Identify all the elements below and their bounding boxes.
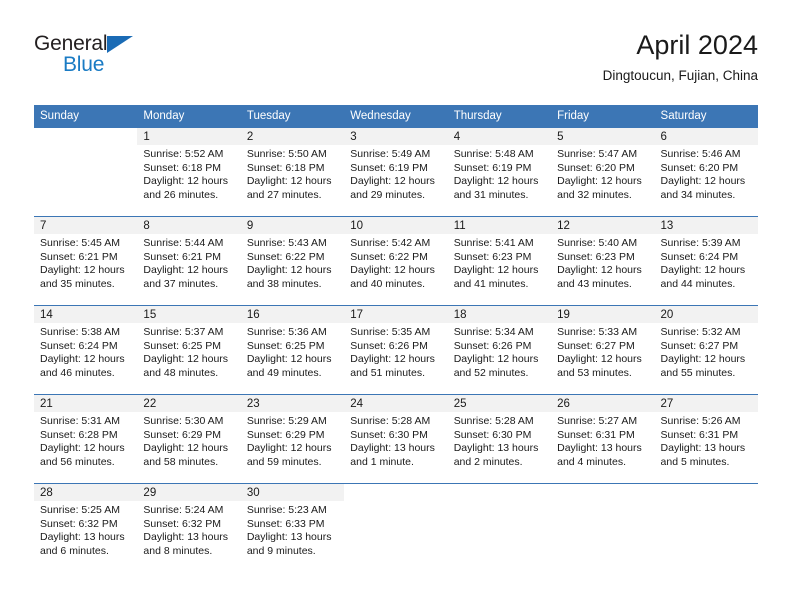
calendar-day-cell[interactable]: 19Sunrise: 5:33 AMSunset: 6:27 PMDayligh… xyxy=(551,306,654,395)
day-details: Sunrise: 5:36 AMSunset: 6:25 PMDaylight:… xyxy=(241,323,344,380)
day-details: Sunrise: 5:28 AMSunset: 6:30 PMDaylight:… xyxy=(448,412,551,469)
calendar-day-cell[interactable]: 13Sunrise: 5:39 AMSunset: 6:24 PMDayligh… xyxy=(655,217,758,306)
daylight-text-line1: Daylight: 12 hours xyxy=(143,175,236,189)
sunrise-text: Sunrise: 5:33 AM xyxy=(557,326,650,340)
day-number-band: 9 xyxy=(241,217,344,234)
daylight-text-line1: Daylight: 12 hours xyxy=(557,353,650,367)
daylight-text-line2: and 34 minutes. xyxy=(661,189,754,203)
day-number: 21 xyxy=(40,397,137,411)
calendar-day-cell[interactable]: 25Sunrise: 5:28 AMSunset: 6:30 PMDayligh… xyxy=(448,395,551,484)
daylight-text-line2: and 2 minutes. xyxy=(454,456,547,470)
day-number-band: 7 xyxy=(34,217,137,234)
sunset-text: Sunset: 6:31 PM xyxy=(661,429,754,443)
calendar-page: General Blue April 2024 Dingtoucun, Fuji… xyxy=(0,0,792,612)
day-details: Sunrise: 5:23 AMSunset: 6:33 PMDaylight:… xyxy=(241,501,344,558)
sunrise-text: Sunrise: 5:41 AM xyxy=(454,237,547,251)
day-number: 17 xyxy=(350,308,447,322)
daylight-text-line1: Daylight: 12 hours xyxy=(557,264,650,278)
daylight-text-line2: and 9 minutes. xyxy=(247,545,340,559)
day-details: Sunrise: 5:50 AMSunset: 6:18 PMDaylight:… xyxy=(241,145,344,202)
daylight-text-line1: Daylight: 12 hours xyxy=(350,353,443,367)
day-number: 8 xyxy=(143,219,240,233)
sunset-text: Sunset: 6:19 PM xyxy=(454,162,547,176)
daylight-text-line1: Daylight: 12 hours xyxy=(247,175,340,189)
calendar-week-row: 14Sunrise: 5:38 AMSunset: 6:24 PMDayligh… xyxy=(34,306,758,395)
sunset-text: Sunset: 6:18 PM xyxy=(247,162,340,176)
daylight-text-line2: and 44 minutes. xyxy=(661,278,754,292)
day-number-band: 4 xyxy=(448,128,551,145)
day-details: Sunrise: 5:46 AMSunset: 6:20 PMDaylight:… xyxy=(655,145,758,202)
daylight-text-line1: Daylight: 12 hours xyxy=(454,264,547,278)
sunset-text: Sunset: 6:22 PM xyxy=(247,251,340,265)
day-number-band: 12 xyxy=(551,217,654,234)
calendar-day-cell[interactable]: 11Sunrise: 5:41 AMSunset: 6:23 PMDayligh… xyxy=(448,217,551,306)
day-number: 20 xyxy=(661,308,758,322)
day-number-band: 23 xyxy=(241,395,344,412)
calendar-day-cell[interactable]: 28Sunrise: 5:25 AMSunset: 6:32 PMDayligh… xyxy=(34,484,137,573)
day-number-band: 18 xyxy=(448,306,551,323)
day-details: Sunrise: 5:30 AMSunset: 6:29 PMDaylight:… xyxy=(137,412,240,469)
sunset-text: Sunset: 6:18 PM xyxy=(143,162,236,176)
day-number-band: 13 xyxy=(655,217,758,234)
day-details: Sunrise: 5:48 AMSunset: 6:19 PMDaylight:… xyxy=(448,145,551,202)
daylight-text-line2: and 32 minutes. xyxy=(557,189,650,203)
general-blue-logo[interactable]: General Blue xyxy=(34,32,234,88)
day-details: Sunrise: 5:38 AMSunset: 6:24 PMDaylight:… xyxy=(34,323,137,380)
calendar-day-cell[interactable]: 22Sunrise: 5:30 AMSunset: 6:29 PMDayligh… xyxy=(137,395,240,484)
calendar-header-row: SundayMondayTuesdayWednesdayThursdayFrid… xyxy=(34,105,758,128)
sunrise-text: Sunrise: 5:26 AM xyxy=(661,415,754,429)
calendar-day-cell[interactable]: 20Sunrise: 5:32 AMSunset: 6:27 PMDayligh… xyxy=(655,306,758,395)
day-number: 5 xyxy=(557,130,654,144)
daylight-text-line2: and 51 minutes. xyxy=(350,367,443,381)
sunrise-text: Sunrise: 5:42 AM xyxy=(350,237,443,251)
calendar-day-cell[interactable]: 26Sunrise: 5:27 AMSunset: 6:31 PMDayligh… xyxy=(551,395,654,484)
daylight-text-line2: and 5 minutes. xyxy=(661,456,754,470)
day-number: 26 xyxy=(557,397,654,411)
daylight-text-line2: and 6 minutes. xyxy=(40,545,133,559)
daylight-text-line2: and 58 minutes. xyxy=(143,456,236,470)
weekday-header-tuesday: Tuesday xyxy=(241,105,344,128)
day-details: Sunrise: 5:27 AMSunset: 6:31 PMDaylight:… xyxy=(551,412,654,469)
daylight-text-line2: and 52 minutes. xyxy=(454,367,547,381)
day-details: Sunrise: 5:24 AMSunset: 6:32 PMDaylight:… xyxy=(137,501,240,558)
sunrise-text: Sunrise: 5:40 AM xyxy=(557,237,650,251)
day-number: 28 xyxy=(40,486,137,500)
triangle-icon xyxy=(107,36,133,53)
sunset-text: Sunset: 6:20 PM xyxy=(557,162,650,176)
calendar-day-cell[interactable]: 5Sunrise: 5:47 AMSunset: 6:20 PMDaylight… xyxy=(551,128,654,217)
day-number-band: 27 xyxy=(655,395,758,412)
daylight-text-line1: Daylight: 12 hours xyxy=(350,264,443,278)
calendar-day-cell[interactable]: 10Sunrise: 5:42 AMSunset: 6:22 PMDayligh… xyxy=(344,217,447,306)
day-number-band: 21 xyxy=(34,395,137,412)
daylight-text-line2: and 8 minutes. xyxy=(143,545,236,559)
day-number: 16 xyxy=(247,308,344,322)
day-number: 25 xyxy=(454,397,551,411)
day-number-band: 2 xyxy=(241,128,344,145)
sunset-text: Sunset: 6:26 PM xyxy=(454,340,547,354)
weekday-header-thursday: Thursday xyxy=(448,105,551,128)
sunset-text: Sunset: 6:21 PM xyxy=(143,251,236,265)
sunrise-text: Sunrise: 5:37 AM xyxy=(143,326,236,340)
day-number-band: 22 xyxy=(137,395,240,412)
day-number-band: 8 xyxy=(137,217,240,234)
weekday-header-monday: Monday xyxy=(137,105,240,128)
daylight-text-line1: Daylight: 12 hours xyxy=(247,442,340,456)
daylight-text-line1: Daylight: 12 hours xyxy=(661,175,754,189)
calendar-body: 1Sunrise: 5:52 AMSunset: 6:18 PMDaylight… xyxy=(34,128,758,573)
day-number-band: 28 xyxy=(34,484,137,501)
day-details: Sunrise: 5:43 AMSunset: 6:22 PMDaylight:… xyxy=(241,234,344,291)
day-number-band: 29 xyxy=(137,484,240,501)
sunset-text: Sunset: 6:25 PM xyxy=(143,340,236,354)
daylight-text-line1: Daylight: 13 hours xyxy=(454,442,547,456)
calendar-day-cell[interactable]: 4Sunrise: 5:48 AMSunset: 6:19 PMDaylight… xyxy=(448,128,551,217)
calendar-day-cell[interactable]: 6Sunrise: 5:46 AMSunset: 6:20 PMDaylight… xyxy=(655,128,758,217)
day-details: Sunrise: 5:47 AMSunset: 6:20 PMDaylight:… xyxy=(551,145,654,202)
calendar-table: SundayMondayTuesdayWednesdayThursdayFrid… xyxy=(34,105,758,572)
day-details: Sunrise: 5:42 AMSunset: 6:22 PMDaylight:… xyxy=(344,234,447,291)
day-number-band: 17 xyxy=(344,306,447,323)
sunset-text: Sunset: 6:29 PM xyxy=(247,429,340,443)
day-details: Sunrise: 5:29 AMSunset: 6:29 PMDaylight:… xyxy=(241,412,344,469)
sunset-text: Sunset: 6:30 PM xyxy=(350,429,443,443)
calendar-day-cell[interactable]: 8Sunrise: 5:44 AMSunset: 6:21 PMDaylight… xyxy=(137,217,240,306)
calendar-week-row: 21Sunrise: 5:31 AMSunset: 6:28 PMDayligh… xyxy=(34,395,758,484)
page-title: April 2024 xyxy=(603,28,758,62)
day-number: 14 xyxy=(40,308,137,322)
calendar-day-cell[interactable]: 14Sunrise: 5:38 AMSunset: 6:24 PMDayligh… xyxy=(34,306,137,395)
weekday-header-friday: Friday xyxy=(551,105,654,128)
daylight-text-line1: Daylight: 13 hours xyxy=(557,442,650,456)
daylight-text-line2: and 53 minutes. xyxy=(557,367,650,381)
day-number: 2 xyxy=(247,130,344,144)
weekday-header-wednesday: Wednesday xyxy=(344,105,447,128)
daylight-text-line2: and 38 minutes. xyxy=(247,278,340,292)
sunset-text: Sunset: 6:29 PM xyxy=(143,429,236,443)
daylight-text-line2: and 40 minutes. xyxy=(350,278,443,292)
sunrise-text: Sunrise: 5:49 AM xyxy=(350,148,443,162)
day-details: Sunrise: 5:49 AMSunset: 6:19 PMDaylight:… xyxy=(344,145,447,202)
day-details: Sunrise: 5:33 AMSunset: 6:27 PMDaylight:… xyxy=(551,323,654,380)
sunrise-text: Sunrise: 5:35 AM xyxy=(350,326,443,340)
calendar-cell-empty xyxy=(551,484,654,573)
calendar-cell-empty xyxy=(655,484,758,573)
daylight-text-line2: and 49 minutes. xyxy=(247,367,340,381)
sunrise-text: Sunrise: 5:23 AM xyxy=(247,504,340,518)
sunrise-text: Sunrise: 5:30 AM xyxy=(143,415,236,429)
day-number: 18 xyxy=(454,308,551,322)
sunrise-text: Sunrise: 5:39 AM xyxy=(661,237,754,251)
sunset-text: Sunset: 6:28 PM xyxy=(40,429,133,443)
day-number-band: 11 xyxy=(448,217,551,234)
daylight-text-line2: and 31 minutes. xyxy=(454,189,547,203)
sunrise-text: Sunrise: 5:48 AM xyxy=(454,148,547,162)
day-details: Sunrise: 5:34 AMSunset: 6:26 PMDaylight:… xyxy=(448,323,551,380)
sunrise-text: Sunrise: 5:29 AM xyxy=(247,415,340,429)
day-number-band: 25 xyxy=(448,395,551,412)
calendar-day-cell[interactable]: 24Sunrise: 5:28 AMSunset: 6:30 PMDayligh… xyxy=(344,395,447,484)
daylight-text-line1: Daylight: 12 hours xyxy=(661,353,754,367)
day-number: 29 xyxy=(143,486,240,500)
day-details: Sunrise: 5:44 AMSunset: 6:21 PMDaylight:… xyxy=(137,234,240,291)
day-number-band: 6 xyxy=(655,128,758,145)
weekday-header-saturday: Saturday xyxy=(655,105,758,128)
daylight-text-line2: and 46 minutes. xyxy=(40,367,133,381)
daylight-text-line2: and 27 minutes. xyxy=(247,189,340,203)
sunset-text: Sunset: 6:30 PM xyxy=(454,429,547,443)
daylight-text-line1: Daylight: 12 hours xyxy=(247,264,340,278)
calendar-day-cell[interactable]: 21Sunrise: 5:31 AMSunset: 6:28 PMDayligh… xyxy=(34,395,137,484)
sunset-text: Sunset: 6:33 PM xyxy=(247,518,340,532)
daylight-text-line2: and 26 minutes. xyxy=(143,189,236,203)
calendar-cell-empty xyxy=(448,484,551,573)
calendar-day-cell[interactable]: 23Sunrise: 5:29 AMSunset: 6:29 PMDayligh… xyxy=(241,395,344,484)
daylight-text-line1: Daylight: 13 hours xyxy=(350,442,443,456)
daylight-text-line2: and 56 minutes. xyxy=(40,456,133,470)
day-details: Sunrise: 5:26 AMSunset: 6:31 PMDaylight:… xyxy=(655,412,758,469)
calendar-day-cell[interactable]: 1Sunrise: 5:52 AMSunset: 6:18 PMDaylight… xyxy=(137,128,240,217)
daylight-text-line1: Daylight: 12 hours xyxy=(454,353,547,367)
sunrise-text: Sunrise: 5:47 AM xyxy=(557,148,650,162)
day-number: 30 xyxy=(247,486,344,500)
day-number: 6 xyxy=(661,130,758,144)
day-details: Sunrise: 5:35 AMSunset: 6:26 PMDaylight:… xyxy=(344,323,447,380)
sunset-text: Sunset: 6:19 PM xyxy=(350,162,443,176)
daylight-text-line2: and 55 minutes. xyxy=(661,367,754,381)
sunrise-text: Sunrise: 5:46 AM xyxy=(661,148,754,162)
calendar-day-cell[interactable]: 18Sunrise: 5:34 AMSunset: 6:26 PMDayligh… xyxy=(448,306,551,395)
calendar-day-cell[interactable]: 27Sunrise: 5:26 AMSunset: 6:31 PMDayligh… xyxy=(655,395,758,484)
day-number: 7 xyxy=(40,219,137,233)
day-number-band: 3 xyxy=(344,128,447,145)
calendar-day-cell[interactable]: 30Sunrise: 5:23 AMSunset: 6:33 PMDayligh… xyxy=(241,484,344,573)
sunset-text: Sunset: 6:23 PM xyxy=(557,251,650,265)
sunset-text: Sunset: 6:24 PM xyxy=(661,251,754,265)
day-details: Sunrise: 5:25 AMSunset: 6:32 PMDaylight:… xyxy=(34,501,137,558)
daylight-text-line1: Daylight: 12 hours xyxy=(143,442,236,456)
daylight-text-line1: Daylight: 12 hours xyxy=(247,353,340,367)
day-number: 27 xyxy=(661,397,758,411)
sunset-text: Sunset: 6:20 PM xyxy=(661,162,754,176)
sunset-text: Sunset: 6:31 PM xyxy=(557,429,650,443)
day-details: Sunrise: 5:45 AMSunset: 6:21 PMDaylight:… xyxy=(34,234,137,291)
day-number: 13 xyxy=(661,219,758,233)
calendar-day-cell[interactable]: 2Sunrise: 5:50 AMSunset: 6:18 PMDaylight… xyxy=(241,128,344,217)
sunrise-text: Sunrise: 5:45 AM xyxy=(40,237,133,251)
day-number-band: 20 xyxy=(655,306,758,323)
calendar-day-cell[interactable]: 7Sunrise: 5:45 AMSunset: 6:21 PMDaylight… xyxy=(34,217,137,306)
daylight-text-line1: Daylight: 12 hours xyxy=(40,442,133,456)
sunrise-text: Sunrise: 5:43 AM xyxy=(247,237,340,251)
weekday-header-sunday: Sunday xyxy=(34,105,137,128)
daylight-text-line2: and 48 minutes. xyxy=(143,367,236,381)
daylight-text-line2: and 35 minutes. xyxy=(40,278,133,292)
daylight-text-line1: Daylight: 12 hours xyxy=(661,264,754,278)
day-number-band: 24 xyxy=(344,395,447,412)
calendar-day-cell[interactable]: 15Sunrise: 5:37 AMSunset: 6:25 PMDayligh… xyxy=(137,306,240,395)
daylight-text-line1: Daylight: 12 hours xyxy=(143,264,236,278)
daylight-text-line1: Daylight: 12 hours xyxy=(40,353,133,367)
sunrise-text: Sunrise: 5:25 AM xyxy=(40,504,133,518)
calendar-day-cell[interactable]: 3Sunrise: 5:49 AMSunset: 6:19 PMDaylight… xyxy=(344,128,447,217)
day-details: Sunrise: 5:41 AMSunset: 6:23 PMDaylight:… xyxy=(448,234,551,291)
day-number: 4 xyxy=(454,130,551,144)
day-number-band: 1 xyxy=(137,128,240,145)
sunset-text: Sunset: 6:25 PM xyxy=(247,340,340,354)
weekday-header: SundayMondayTuesdayWednesdayThursdayFrid… xyxy=(34,105,758,128)
sunrise-text: Sunrise: 5:28 AM xyxy=(454,415,547,429)
day-number-band: 19 xyxy=(551,306,654,323)
logo-text-blue: Blue xyxy=(63,53,104,77)
day-number: 19 xyxy=(557,308,654,322)
day-details: Sunrise: 5:37 AMSunset: 6:25 PMDaylight:… xyxy=(137,323,240,380)
daylight-text-line2: and 4 minutes. xyxy=(557,456,650,470)
day-details: Sunrise: 5:40 AMSunset: 6:23 PMDaylight:… xyxy=(551,234,654,291)
day-details: Sunrise: 5:32 AMSunset: 6:27 PMDaylight:… xyxy=(655,323,758,380)
sunrise-text: Sunrise: 5:27 AM xyxy=(557,415,650,429)
day-details: Sunrise: 5:31 AMSunset: 6:28 PMDaylight:… xyxy=(34,412,137,469)
day-number: 11 xyxy=(454,219,551,233)
day-number: 24 xyxy=(350,397,447,411)
sunrise-text: Sunrise: 5:44 AM xyxy=(143,237,236,251)
daylight-text-line2: and 1 minute. xyxy=(350,456,443,470)
daylight-text-line2: and 29 minutes. xyxy=(350,189,443,203)
day-number-band: 14 xyxy=(34,306,137,323)
daylight-text-line2: and 41 minutes. xyxy=(454,278,547,292)
daylight-text-line1: Daylight: 13 hours xyxy=(40,531,133,545)
day-details: Sunrise: 5:39 AMSunset: 6:24 PMDaylight:… xyxy=(655,234,758,291)
day-number: 15 xyxy=(143,308,240,322)
day-number-band: 15 xyxy=(137,306,240,323)
sunset-text: Sunset: 6:23 PM xyxy=(454,251,547,265)
sunrise-text: Sunrise: 5:28 AM xyxy=(350,415,443,429)
title-block: April 2024 Dingtoucun, Fujian, China xyxy=(603,28,758,86)
calendar-day-cell[interactable]: 29Sunrise: 5:24 AMSunset: 6:32 PMDayligh… xyxy=(137,484,240,573)
sunset-text: Sunset: 6:27 PM xyxy=(661,340,754,354)
sunset-text: Sunset: 6:22 PM xyxy=(350,251,443,265)
sunrise-text: Sunrise: 5:38 AM xyxy=(40,326,133,340)
calendar-week-row: 28Sunrise: 5:25 AMSunset: 6:32 PMDayligh… xyxy=(34,484,758,573)
day-number: 22 xyxy=(143,397,240,411)
sunrise-text: Sunrise: 5:50 AM xyxy=(247,148,340,162)
sunrise-text: Sunrise: 5:52 AM xyxy=(143,148,236,162)
day-number: 3 xyxy=(350,130,447,144)
sunset-text: Sunset: 6:21 PM xyxy=(40,251,133,265)
daylight-text-line1: Daylight: 12 hours xyxy=(557,175,650,189)
day-number: 10 xyxy=(350,219,447,233)
day-number-band: 16 xyxy=(241,306,344,323)
sunset-text: Sunset: 6:32 PM xyxy=(143,518,236,532)
sunrise-text: Sunrise: 5:34 AM xyxy=(454,326,547,340)
calendar-week-row: 7Sunrise: 5:45 AMSunset: 6:21 PMDaylight… xyxy=(34,217,758,306)
sunrise-text: Sunrise: 5:31 AM xyxy=(40,415,133,429)
sunrise-text: Sunrise: 5:24 AM xyxy=(143,504,236,518)
daylight-text-line1: Daylight: 12 hours xyxy=(350,175,443,189)
day-number-band: 30 xyxy=(241,484,344,501)
day-number: 9 xyxy=(247,219,344,233)
day-number: 12 xyxy=(557,219,654,233)
day-number-band: 5 xyxy=(551,128,654,145)
daylight-text-line2: and 37 minutes. xyxy=(143,278,236,292)
day-number: 1 xyxy=(143,130,240,144)
calendar-cell-empty xyxy=(344,484,447,573)
calendar-day-cell[interactable]: 9Sunrise: 5:43 AMSunset: 6:22 PMDaylight… xyxy=(241,217,344,306)
calendar-week-row: 1Sunrise: 5:52 AMSunset: 6:18 PMDaylight… xyxy=(34,128,758,217)
daylight-text-line2: and 59 minutes. xyxy=(247,456,340,470)
sunset-text: Sunset: 6:32 PM xyxy=(40,518,133,532)
location-subtitle: Dingtoucun, Fujian, China xyxy=(603,66,758,86)
daylight-text-line1: Daylight: 12 hours xyxy=(40,264,133,278)
day-details: Sunrise: 5:28 AMSunset: 6:30 PMDaylight:… xyxy=(344,412,447,469)
daylight-text-line1: Daylight: 12 hours xyxy=(454,175,547,189)
calendar-cell-empty xyxy=(34,128,137,217)
sunrise-text: Sunrise: 5:36 AM xyxy=(247,326,340,340)
daylight-text-line1: Daylight: 13 hours xyxy=(143,531,236,545)
daylight-text-line1: Daylight: 12 hours xyxy=(143,353,236,367)
sunset-text: Sunset: 6:24 PM xyxy=(40,340,133,354)
day-details: Sunrise: 5:52 AMSunset: 6:18 PMDaylight:… xyxy=(137,145,240,202)
sunrise-text: Sunrise: 5:32 AM xyxy=(661,326,754,340)
day-number-band: 26 xyxy=(551,395,654,412)
day-number-band: 10 xyxy=(344,217,447,234)
calendar-day-cell[interactable]: 16Sunrise: 5:36 AMSunset: 6:25 PMDayligh… xyxy=(241,306,344,395)
sunset-text: Sunset: 6:27 PM xyxy=(557,340,650,354)
daylight-text-line1: Daylight: 13 hours xyxy=(247,531,340,545)
page-header: General Blue April 2024 Dingtoucun, Fuji… xyxy=(34,28,758,90)
sunset-text: Sunset: 6:26 PM xyxy=(350,340,443,354)
calendar-day-cell[interactable]: 17Sunrise: 5:35 AMSunset: 6:26 PMDayligh… xyxy=(344,306,447,395)
daylight-text-line2: and 43 minutes. xyxy=(557,278,650,292)
day-number: 23 xyxy=(247,397,344,411)
daylight-text-line1: Daylight: 13 hours xyxy=(661,442,754,456)
calendar-day-cell[interactable]: 12Sunrise: 5:40 AMSunset: 6:23 PMDayligh… xyxy=(551,217,654,306)
